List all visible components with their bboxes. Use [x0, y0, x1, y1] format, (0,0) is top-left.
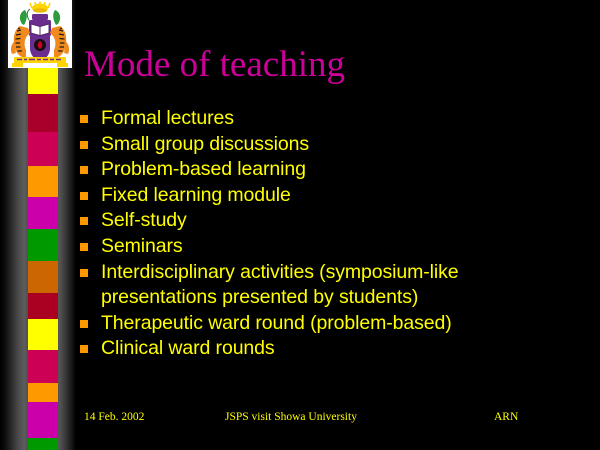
bullet-list-item: Self-study [80, 208, 580, 234]
bullet-item-label: Formal lectures [101, 106, 580, 132]
color-block [28, 166, 58, 197]
square-bullet-icon [80, 192, 88, 200]
color-block [28, 229, 58, 261]
square-bullet-icon [80, 243, 88, 251]
color-block [28, 438, 58, 450]
bullet-list-item: Seminars [80, 234, 580, 260]
footer-event-title: JSPS visit Showa University [225, 411, 357, 423]
bullet-list-item: Fixed learning module [80, 183, 580, 209]
bullet-item-label: Fixed learning module [101, 183, 580, 209]
bullet-list-item: Small group discussions [80, 132, 580, 158]
square-bullet-icon [80, 217, 88, 225]
color-block [28, 293, 58, 319]
slide-footer: 14 Feb. 2002 JSPS visit Showa University… [0, 411, 600, 429]
presentation-slide: Mode of teaching Formal lecturesSmall gr… [0, 0, 600, 450]
bullet-item-label-continued: presentations presented by students) [101, 285, 580, 311]
square-bullet-icon [80, 269, 88, 277]
bullet-item-label: Therapeutic ward round (problem-based) [101, 311, 580, 337]
university-coat-of-arms-logo [8, 0, 72, 68]
bullet-list-item: Interdisciplinary activities (symposium-… [80, 260, 580, 311]
color-block [28, 350, 58, 383]
bullet-list: Formal lecturesSmall group discussionsPr… [80, 106, 580, 362]
bullet-item-label: Self-study [101, 208, 580, 234]
color-block [28, 383, 58, 402]
color-block [28, 319, 58, 350]
color-block [28, 94, 58, 132]
bullet-list-item: Clinical ward rounds [80, 336, 580, 362]
square-bullet-icon [80, 166, 88, 174]
square-bullet-icon [80, 345, 88, 353]
footer-author-initials: ARN [494, 411, 518, 423]
bullet-list-item: Formal lectures [80, 106, 580, 132]
color-block [28, 197, 58, 229]
bullet-item-label: Clinical ward rounds [101, 336, 580, 362]
color-block [28, 261, 58, 293]
bullet-item-label: Interdisciplinary activities (symposium-… [101, 260, 580, 311]
color-block [28, 132, 58, 166]
bullet-item-label: Problem-based learning [101, 157, 580, 183]
footer-date: 14 Feb. 2002 [84, 411, 144, 423]
square-bullet-icon [80, 115, 88, 123]
color-block [28, 64, 58, 94]
bullet-list-item: Problem-based learning [80, 157, 580, 183]
bullet-item-label: Seminars [101, 234, 580, 260]
bullet-item-label: Small group discussions [101, 132, 580, 158]
coat-of-arms-icon [8, 0, 72, 68]
square-bullet-icon [80, 141, 88, 149]
bullet-list-item: Therapeutic ward round (problem-based) [80, 311, 580, 337]
slide-title: Mode of teaching [84, 44, 584, 86]
square-bullet-icon [80, 320, 88, 328]
